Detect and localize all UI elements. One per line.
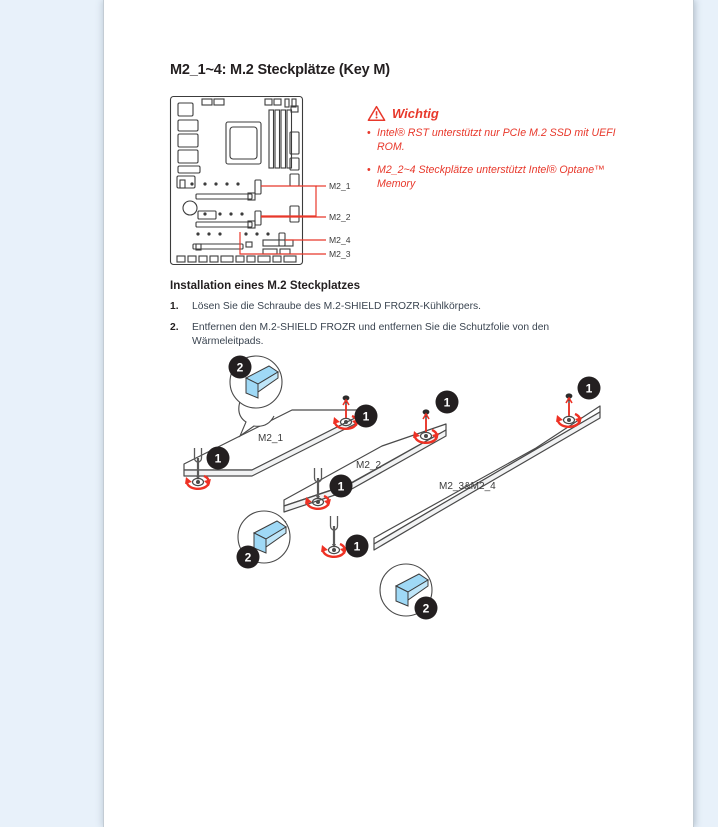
mb-label-m2-1: M2_1	[329, 181, 351, 191]
step-badge-1: 1	[355, 405, 378, 428]
slot-label-m2-1: M2_1	[258, 433, 283, 444]
warning-triangle-icon	[367, 105, 386, 122]
bullet-glyph: •	[367, 164, 371, 178]
step-badge-1: 1	[207, 447, 230, 470]
step-text: Entfernen den M.2-SHIELD FROZR und entfe…	[192, 321, 620, 349]
mb-label-m2-3: M2_3	[329, 249, 351, 259]
step-badge-1: 1	[578, 377, 601, 400]
svg-text:2: 2	[245, 551, 252, 565]
section-subtitle: Installation eines M.2 Steckplatzes	[170, 279, 360, 292]
document-page: M2_1~4: M.2 Steckplätze (Key M)	[104, 0, 693, 827]
step-text: Lösen Sie die Schraube des M.2-SHIELD FR…	[192, 300, 620, 314]
m2-shield-installation-diagram: M2_1 M2_2 M2_3&M2_4	[174, 352, 629, 637]
screenshot-viewport: M2_1~4: M.2 Steckplätze (Key M)	[0, 0, 718, 827]
important-note: Wichtig • Intel® RST unterstützt nur PCI…	[367, 105, 632, 201]
note-item-text: Intel® RST unterstützt nur PCIe M.2 SSD …	[377, 127, 616, 153]
screw-m2-3-4-right	[556, 393, 582, 426]
svg-text:1: 1	[444, 396, 451, 410]
motherboard-layout-diagram: M2_1 M2_2 M2_4 M2_3	[168, 94, 368, 269]
note-item-text: M2_2~4 Steckplätze unterstützt Intel® Op…	[377, 164, 605, 190]
svg-text:1: 1	[338, 480, 345, 494]
slot-label-m2-3-4: M2_3&M2_4	[439, 481, 496, 492]
film-callout-middle: 2	[237, 511, 291, 569]
note-title: Wichtig	[392, 106, 439, 121]
svg-text:1: 1	[363, 410, 370, 424]
installation-steps: 1. Lösen Sie die Schraube des M.2-SHIELD…	[170, 300, 620, 355]
note-header: Wichtig	[367, 105, 632, 122]
note-item: • Intel® RST unterstützt nur PCIe M.2 SS…	[367, 127, 632, 155]
svg-text:2: 2	[423, 602, 430, 616]
step-number: 1.	[170, 300, 192, 314]
list-item: 1. Lösen Sie die Schraube des M.2-SHIELD…	[170, 300, 620, 314]
mb-label-m2-2: M2_2	[329, 212, 351, 222]
list-item: 2. Entfernen den M.2-SHIELD FROZR und en…	[170, 321, 620, 349]
step-badge-1: 1	[346, 535, 369, 558]
note-item: • M2_2~4 Steckplätze unterstützt Intel® …	[367, 164, 632, 192]
svg-text:1: 1	[586, 382, 593, 396]
bullet-glyph: •	[367, 127, 371, 141]
svg-text:1: 1	[354, 540, 361, 554]
svg-text:2: 2	[237, 361, 244, 375]
step-badge-1: 1	[330, 475, 353, 498]
film-callout-bottom: 2	[380, 564, 438, 620]
svg-text:1: 1	[215, 452, 222, 466]
step-number: 2.	[170, 321, 192, 349]
mb-label-m2-4: M2_4	[329, 235, 351, 245]
page-title: M2_1~4: M.2 Steckplätze (Key M)	[170, 62, 390, 78]
step-badge-1: 1	[436, 391, 459, 414]
slot-label-m2-2: M2_2	[356, 460, 381, 471]
screwdriver-m2-3-4-left	[321, 516, 347, 557]
